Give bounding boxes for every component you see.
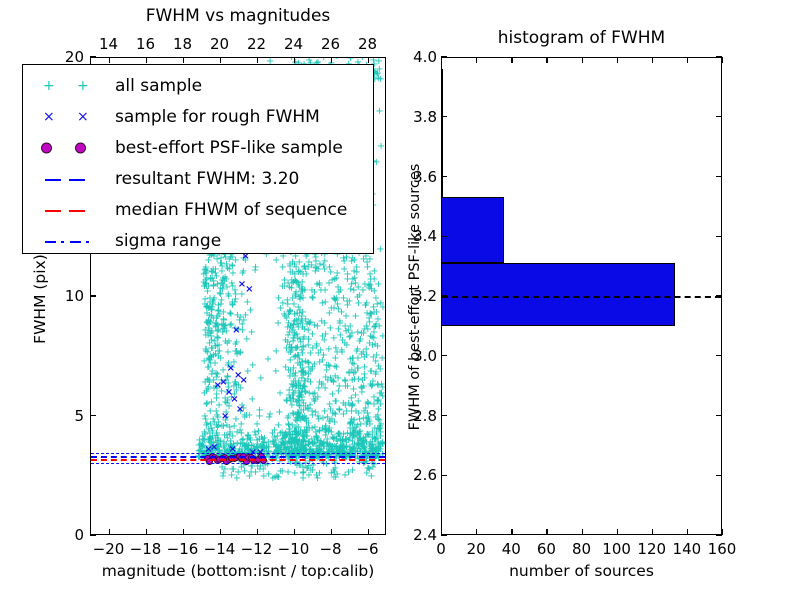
axis-tick-label: 2.4 [399,526,437,544]
histogram-bar [441,197,504,263]
histogram-fwhm-reference-line [442,296,721,298]
scatter-point: + [203,309,211,319]
scatter-point: + [335,288,343,298]
right-yaxis-label: FWHM of best-effort PSF-like sources [407,142,423,452]
axis-tick [109,57,110,63]
scatter-point: + [333,470,341,480]
scatter-point: + [298,358,306,368]
histogram-bar [441,263,675,326]
axis-tick-label: −12 [237,540,277,558]
scatter-point: + [353,364,361,374]
scatter-point: + [360,353,368,363]
axis-tick [476,529,477,535]
axis-tick [716,236,722,237]
axis-tick [476,57,477,63]
scatter-point: + [318,440,326,450]
scatter-point: + [213,341,221,351]
scatter-point: + [293,411,301,421]
axis-tick [722,529,723,535]
axis-tick-label: 3.8 [399,108,437,126]
legend-rows: ++all sample××sample for rough FWHMbest-… [23,65,373,256]
scatter-point: + [374,440,382,450]
scatter-point: + [228,465,236,475]
legend-item[interactable]: median FHWM of sequence [29,194,373,225]
axis-tick [716,475,722,476]
scatter-point: + [328,376,336,386]
legend-marker [29,225,115,256]
scatter-point: + [251,263,259,273]
axis-tick [652,529,653,535]
legend-item-label: sigma range [115,231,221,251]
scatter-point: + [350,375,358,385]
scatter-point: + [279,299,287,309]
dashdot-line-icon [45,241,56,243]
scatter-point: + [292,344,300,354]
legend-item[interactable]: ++all sample [29,70,373,101]
dashed-line-icon [69,210,85,212]
axis-tick-label: −14 [200,540,240,558]
scatter-point: + [337,308,345,318]
rough-fwhm-point: × [245,285,253,295]
axis-tick-label: 28 [348,35,388,53]
axis-tick [617,57,618,63]
legend-box: ++all sample××sample for rough FWHMbest-… [22,64,374,254]
axis-tick [652,57,653,63]
scatter-point: + [272,367,280,377]
axis-tick-label: 2.6 [399,466,437,484]
right-xaxis-label: number of sources [441,562,722,580]
figure-canvas: FWHM vs magnitudes +++++++++++++++++++++… [0,0,800,600]
axis-tick [546,57,547,63]
dashed-line-icon [69,179,85,181]
axis-tick-label: −6 [348,540,388,558]
axis-tick-label: 22 [237,35,277,53]
legend-marker: ×× [29,101,115,132]
plus-icon: + [43,79,55,93]
legend-item-label: best-effort PSF-like sample [115,138,343,158]
scatter-point: + [315,469,323,479]
axis-tick-label: 18 [163,35,203,53]
scatter-point: + [355,434,363,444]
right-plot-title: histogram of FWHM [441,28,722,48]
scatter-point: + [351,312,359,322]
axis-tick [220,529,221,535]
legend-item[interactable]: ××sample for rough FWHM [29,101,373,132]
scatter-point: + [284,331,292,341]
scatter-point: + [274,473,282,483]
scatter-point: + [348,402,356,412]
axis-tick-label: 40 [491,540,531,558]
scatter-point: + [210,351,218,361]
axis-tick [220,57,221,63]
scatter-point: + [371,340,379,350]
axis-tick-label: 80 [562,540,602,558]
scatter-point: + [373,380,381,390]
axis-tick-label: 160 [702,540,742,558]
scatter-point: + [366,367,374,377]
axis-tick [687,529,688,535]
dashed-line-icon [45,210,61,212]
scatter-point: + [318,299,326,309]
scatter-point: + [248,328,256,338]
scatter-point: + [248,395,256,405]
scatter-point: + [214,312,222,322]
scatter-point: + [364,399,372,409]
scatter-point: + [237,313,245,323]
axis-tick [441,56,447,57]
scatter-point: + [239,267,247,277]
scatter-point: + [207,329,215,339]
axis-tick [582,57,583,63]
axis-tick [441,295,447,296]
axis-tick [331,57,332,63]
axis-tick [617,529,618,535]
scatter-point: + [212,390,220,400]
axis-tick-label: −16 [163,540,203,558]
scatter-point: + [275,408,283,418]
axis-tick [441,176,447,177]
axis-tick [582,529,583,535]
axis-tick [716,295,722,296]
circle-icon [75,142,86,153]
cross-icon: × [77,110,89,124]
left-plot-title: FWHM vs magnitudes [90,6,386,26]
scatter-point: + [379,332,385,342]
scatter-point: + [330,304,338,314]
scatter-point: + [310,288,318,298]
scatter-point: + [307,466,315,476]
axis-tick [441,475,447,476]
scatter-point: + [203,267,211,277]
legend-marker [29,194,115,225]
axis-tick-label: 20 [200,35,240,53]
scatter-point: + [293,309,301,319]
scatter-point: + [348,466,356,476]
scatter-point: + [296,382,304,392]
scatter-point: + [202,345,210,355]
scatter-point: + [374,280,382,290]
rough-fwhm-point: × [214,381,222,391]
axis-tick [109,529,110,535]
scatter-point: + [345,297,353,307]
scatter-point: + [365,280,373,290]
axis-tick [441,57,442,63]
scatter-point: + [255,406,263,416]
scatter-point: + [272,347,280,357]
scatter-point: + [276,389,284,399]
axis-tick [368,57,369,63]
axis-tick [183,529,184,535]
legend-item[interactable]: sigma range [29,225,373,256]
scatter-point: + [204,425,212,435]
scatter-point: + [217,296,225,306]
scatter-point: + [301,428,309,438]
scatter-point: + [280,310,288,320]
axis-tick [722,57,723,63]
axis-tick [294,529,295,535]
scatter-point: + [379,303,385,313]
axis-tick [90,534,96,535]
legend-marker [29,163,115,194]
scatter-point: + [210,294,218,304]
scatter-point: + [348,354,356,364]
axis-tick [146,529,147,535]
reference-line-median-fhwm-of-sequence [91,459,385,461]
axis-tick [511,529,512,535]
scatter-point: + [331,354,339,364]
left-xaxis-label: magnitude (bottom:isnt / top:calib) [90,562,386,580]
axis-tick-label: 20 [456,540,496,558]
legend-item-label: resultant FWHM: 3.20 [115,169,299,189]
scatter-point: + [223,283,231,293]
reference-line-sigma-range-upper [91,453,385,454]
scatter-point: + [251,428,259,438]
scatter-point: + [282,344,290,354]
axis-tick [441,236,447,237]
axis-tick [146,57,147,63]
axis-tick [687,57,688,63]
axis-tick-label: 120 [632,540,672,558]
axis-tick-label: 5 [50,407,84,425]
cross-icon: × [43,110,55,124]
plus-icon: + [77,79,89,93]
axis-tick-label: −8 [311,540,351,558]
rough-fwhm-point: × [232,326,240,336]
axis-tick [294,57,295,63]
scatter-point: + [236,349,244,359]
axis-tick [441,415,447,416]
scatter-point: + [365,318,373,328]
axis-tick-label: −10 [274,540,314,558]
axis-tick-label: 10 [50,287,84,305]
reference-line-sigma-range-lower [91,463,385,464]
legend-item-label: sample for rough FWHM [115,107,320,127]
axis-tick-label: 60 [526,540,566,558]
scatter-point: + [304,341,312,351]
circle-icon [41,142,52,153]
axis-tick [331,529,332,535]
scatter-point: + [225,265,233,275]
scatter-point: + [248,361,256,371]
scatter-point: + [288,276,296,286]
scatter-point: + [219,472,227,482]
scatter-point: + [288,391,296,401]
scatter-point: + [301,402,309,412]
axis-tick [716,176,722,177]
scatter-point: + [353,268,361,278]
scatter-point: + [377,142,385,152]
axis-tick-label: 24 [274,35,314,53]
axis-tick [716,355,722,356]
scatter-point: + [276,443,284,453]
axis-tick [90,295,96,296]
axis-tick-label: 100 [597,540,637,558]
scatter-point: + [372,428,380,438]
scatter-point: + [201,412,209,422]
scatter-point: + [208,370,216,380]
axis-tick [716,534,722,535]
axis-tick [441,534,447,535]
legend-marker: ++ [29,70,115,101]
axis-tick-label: 0 [50,526,84,544]
rough-fwhm-point: × [221,412,229,422]
scatter-point: + [223,339,231,349]
scatter-point: + [348,329,356,339]
axis-tick [368,529,369,535]
scatter-point: + [309,439,317,449]
axis-tick-label: 26 [311,35,351,53]
axis-tick [257,57,258,63]
scatter-point: + [339,410,347,420]
scatter-point: + [257,374,265,384]
scatter-point: + [200,282,208,292]
scatter-point: + [259,465,267,475]
dashdot-line-icon [86,241,89,243]
scatter-point: + [327,428,335,438]
scatter-point: + [334,325,342,335]
scatter-point: + [325,279,333,289]
axis-tick [183,57,184,63]
dashdot-line-icon [61,241,64,243]
axis-tick-label: −18 [126,540,166,558]
scatter-point: + [215,401,223,411]
legend-item-label: all sample [115,76,202,96]
scatter-point: + [228,298,236,308]
axis-tick-label: −20 [89,540,129,558]
scatter-point: + [292,431,300,441]
axis-tick-label: 4.0 [399,48,437,66]
scatter-point: + [379,392,385,402]
scatter-point: + [230,422,238,432]
dashdot-line-icon [70,241,81,243]
scatter-point: + [356,337,364,347]
legend-marker [29,132,115,163]
axis-tick [90,56,96,57]
axis-tick [511,57,512,63]
scatter-point: + [316,358,324,368]
scatter-point: + [200,389,208,399]
scatter-point: + [375,107,383,117]
axis-tick [716,56,722,57]
scatter-point: + [213,255,221,265]
scatter-point: + [351,279,359,289]
dashed-line-icon [45,179,61,181]
axis-tick [441,355,447,356]
axis-tick-label: 14 [89,35,129,53]
scatter-point: + [320,265,328,275]
histogram-bar [441,69,443,197]
axis-tick [257,529,258,535]
scatter-point: + [336,430,344,440]
scatter-point: + [358,58,366,63]
axis-tick [716,415,722,416]
axis-tick-label: 140 [667,540,707,558]
scatter-point: + [376,245,384,255]
scatter-point: + [313,340,321,350]
rough-fwhm-point: × [240,376,248,386]
legend-item[interactable]: resultant FWHM: 3.20 [29,163,373,194]
axis-tick [716,116,722,117]
axis-tick [90,415,96,416]
scatter-point: + [301,286,309,296]
axis-tick [546,529,547,535]
scatter-point: + [319,414,327,424]
legend-item-label: median FHWM of sequence [115,200,347,220]
axis-tick-label: 16 [126,35,166,53]
scatter-point: + [354,299,362,309]
axis-tick [441,116,447,117]
legend-item[interactable]: best-effort PSF-like sample [29,132,373,163]
scatter-point: + [266,410,274,420]
rough-fwhm-point: × [236,405,244,415]
scatter-point: + [351,391,359,401]
scatter-point: + [378,354,385,364]
